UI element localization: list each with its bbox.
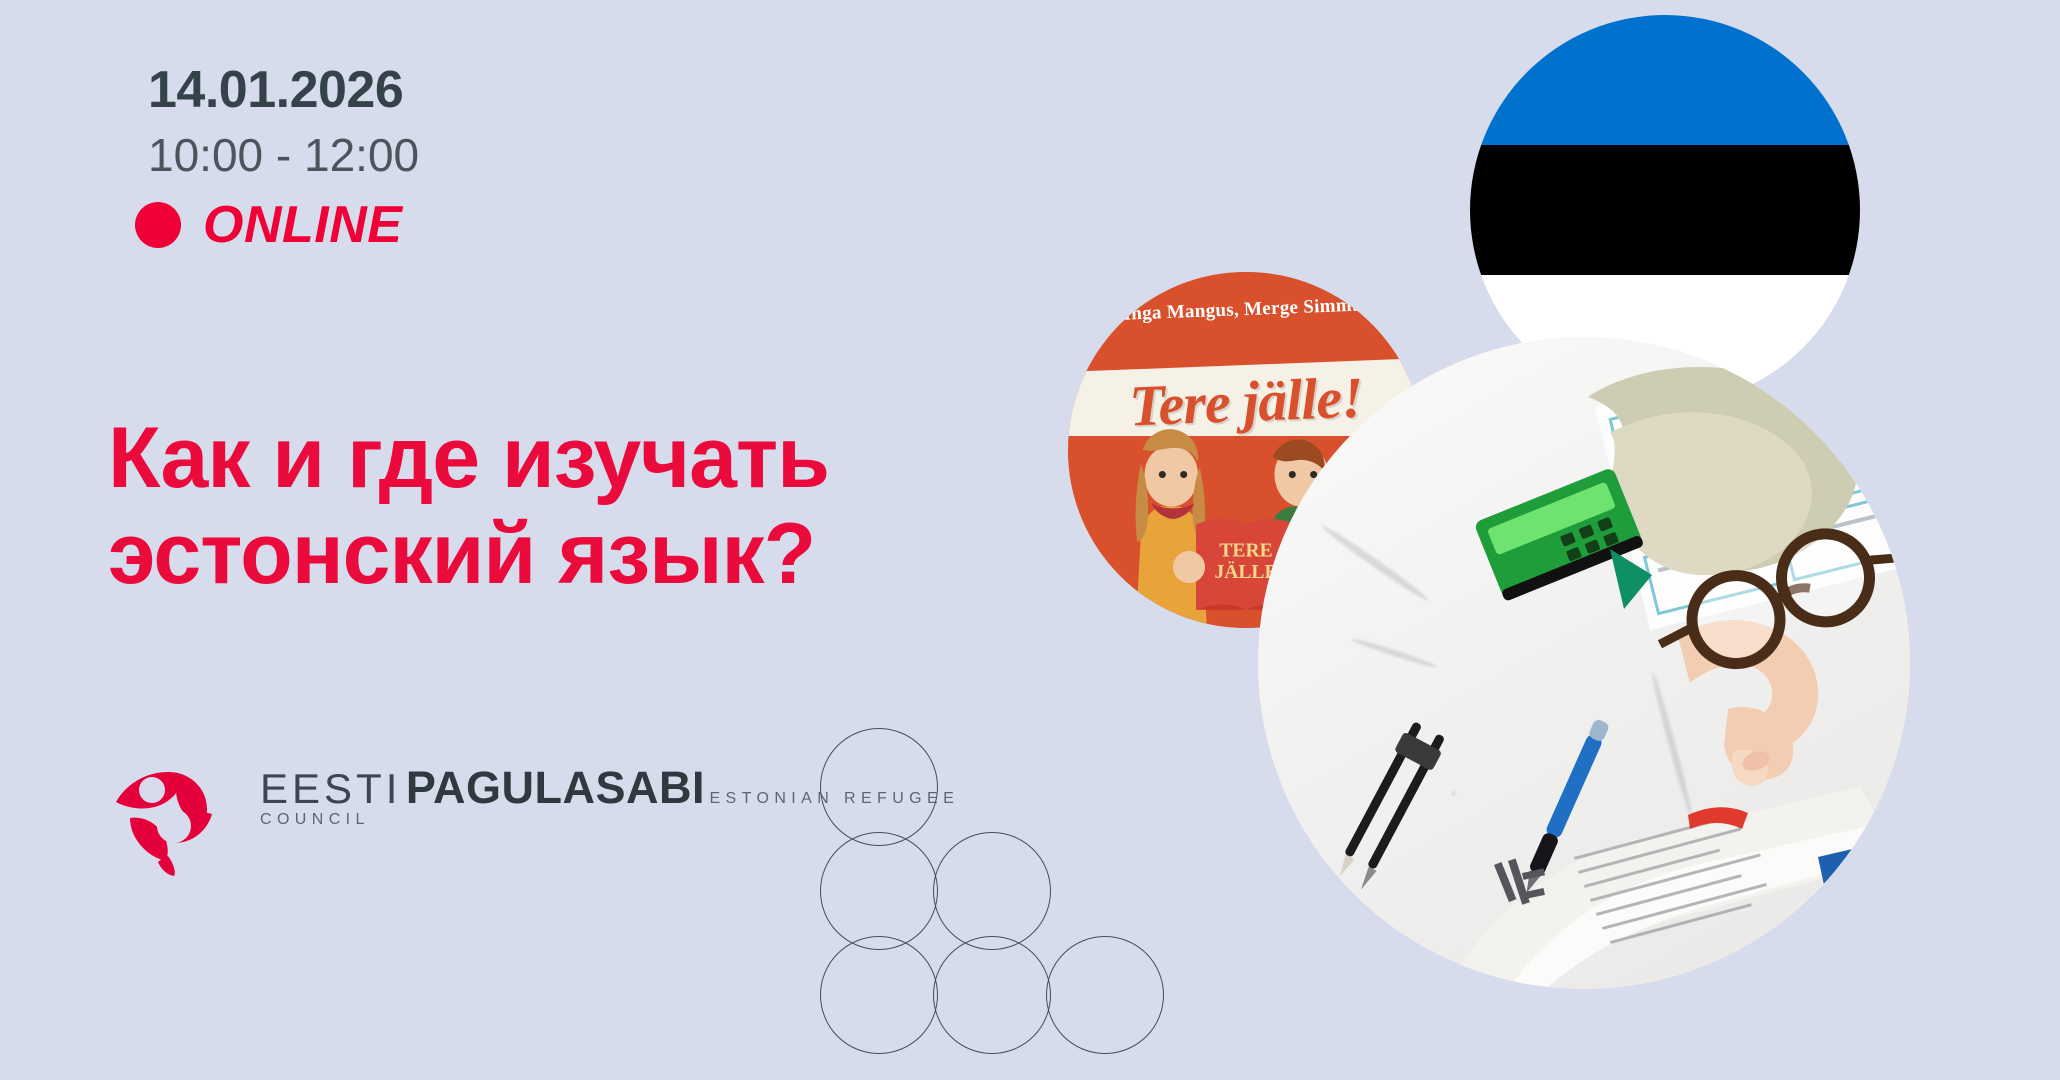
decorative-circle — [820, 936, 938, 1054]
decorative-circles — [820, 728, 1250, 1058]
decorative-circle — [933, 832, 1051, 950]
headline-line-2: эстонский язык? — [108, 506, 938, 602]
decorative-circle — [1046, 936, 1164, 1054]
flag-band-blue — [1470, 15, 1860, 145]
headline-line-1: Как и где изучать — [108, 410, 938, 506]
logo-line-pagulasabi: PAGULASABI — [406, 762, 705, 813]
pagulasabi-figures-icon — [108, 748, 236, 876]
logo-line-eesti: EESTI — [260, 765, 401, 812]
poster-canvas: 14.01.2026 10:00 - 12:00 ONLINE Как и гд… — [0, 0, 2060, 1080]
study-desk-objects — [1258, 337, 1910, 989]
online-label: ONLINE — [203, 195, 402, 255]
event-time: 10:00 - 12:00 — [148, 128, 419, 182]
decorative-circle — [820, 728, 938, 846]
red-dot-icon — [135, 202, 181, 248]
flag-band-black — [1470, 145, 1860, 275]
poster-right-column: Inga Mangus, Merge Simmul Tere jälle! — [1000, 0, 2060, 1080]
page-title: Как и где изучать эстонский язык? — [108, 410, 938, 603]
event-date: 14.01.2026 — [148, 60, 403, 120]
online-badge: ONLINE — [135, 195, 402, 255]
decorative-circle — [933, 936, 1051, 1054]
decorative-circle — [820, 832, 938, 950]
student-studying-photo — [1258, 337, 1910, 989]
